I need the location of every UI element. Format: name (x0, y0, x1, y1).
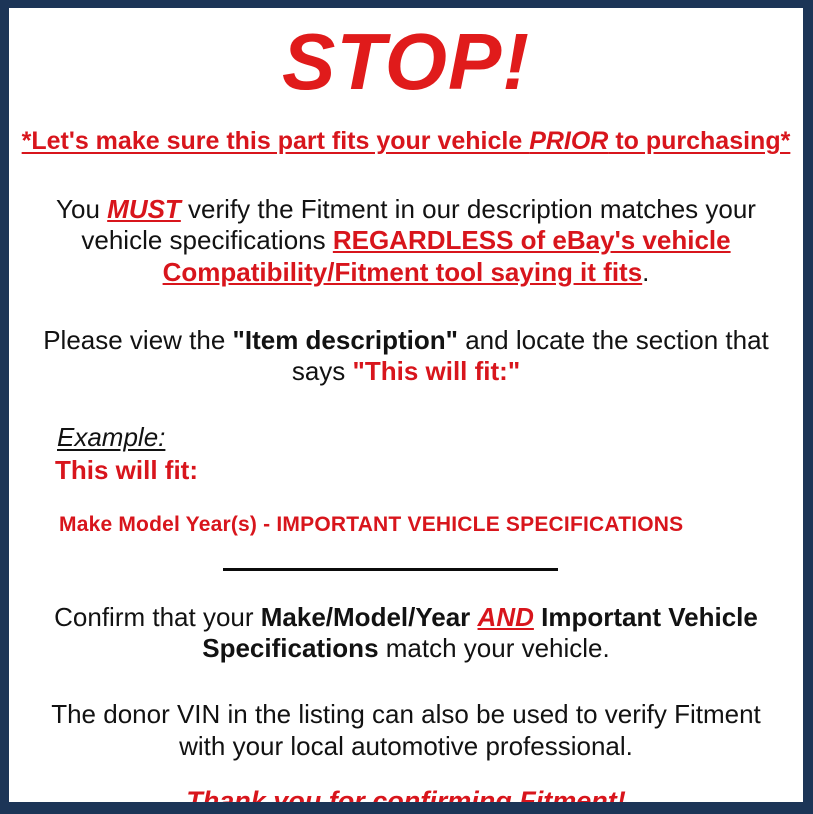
example-fit-header: This will fit: (55, 455, 803, 486)
fitment-warning-poster: STOP! *Let's make sure this part fits yo… (0, 0, 813, 814)
vin-paragraph: The donor VIN in the listing can also be… (9, 699, 803, 762)
section-divider (223, 568, 558, 571)
subtitle-part2: to purchasing* (608, 127, 790, 155)
poster-inner: STOP! *Let's make sure this part fits yo… (9, 22, 803, 814)
must-verify-paragraph: You MUST verify the Fitment in our descr… (9, 194, 803, 289)
must-lead-text: You (56, 194, 107, 224)
subtitle-banner: *Let's make sure this part fits your veh… (9, 128, 803, 156)
subtitle-part1: *Let's make sure this part fits your veh… (22, 127, 530, 155)
confirm-paragraph: Confirm that your Make/Model/Year AND Im… (9, 602, 803, 665)
make-model-year-label: Make/Model/Year (261, 602, 471, 632)
view-lead-text: Please view the (43, 325, 232, 355)
confirm-lead-text: Confirm that your (54, 602, 261, 632)
must-keyword: MUST (107, 194, 181, 224)
must-period: . (642, 257, 649, 287)
this-will-fit-quote: "This will fit:" (353, 356, 521, 386)
example-label: Example: (57, 422, 165, 453)
example-block: Example: This will fit: Make Model Year(… (9, 422, 803, 538)
thank-you-message: Thank you for confirming Fitment! (9, 785, 803, 814)
page-title: STOP! (9, 22, 803, 102)
divider-wrapper (9, 566, 803, 576)
item-description-label: "Item description" (233, 325, 458, 355)
and-keyword: AND (478, 602, 534, 632)
subtitle-emphasis: PRIOR (529, 127, 608, 155)
example-spec-line: Make Model Year(s) - IMPORTANT VEHICLE S… (59, 512, 803, 537)
confirm-tail-text: match your vehicle. (379, 633, 610, 663)
view-description-paragraph: Please view the "Item description" and l… (9, 325, 803, 388)
